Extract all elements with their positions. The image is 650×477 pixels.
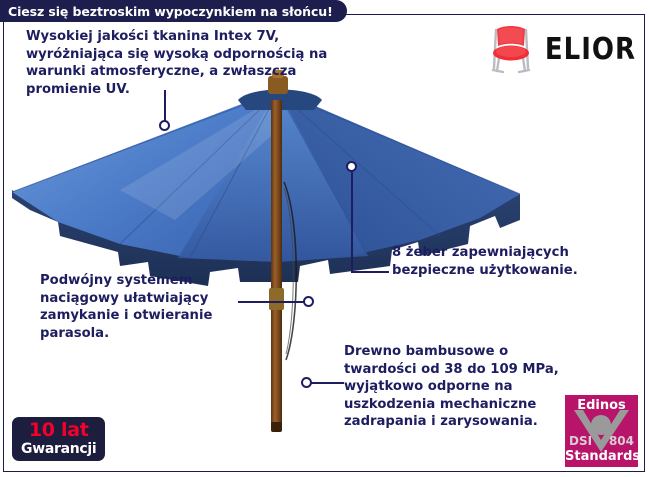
marker-tension [303,296,314,307]
leader-line-wood [310,382,344,384]
guarantee-badge: 10 lat Gwarancji [12,417,105,461]
callout-tension-text: Podwójny systemem naciągowy ułatwiający … [40,272,240,342]
guarantee-label: Gwarancji [21,442,96,456]
leader-line-tension [238,301,308,303]
marker-fabric [159,120,170,131]
callout-ribs-text: 8 żeber zapewniających bezpieczne użytko… [392,244,607,279]
header-banner: Ciesz się beztroskim wypoczynkiem na sło… [0,0,347,22]
red-chair-icon [487,24,535,76]
brand-name: ELIOR [545,33,636,68]
marker-ribs [346,161,357,172]
callout-fabric-text: Wysokiej jakości tkanina Intex 7V, wyróż… [26,28,344,98]
leader-line-ribs-vertical [351,172,353,272]
standards-label: Standards [565,449,638,464]
leader-line-fabric [164,90,166,122]
leader-line-ribs-horizontal [351,271,389,273]
brand-logo: ELIOR [487,24,636,76]
product-infographic: Ciesz się beztroskim wypoczynkiem na sło… [0,0,650,477]
standards-number: 804 [609,434,634,448]
standards-dsi: DSI [569,434,592,448]
guarantee-years: 10 lat [21,421,96,440]
callout-wood-text: Drewno bambusowe o twardości od 38 do 10… [344,343,569,431]
marker-wood [301,377,312,388]
standards-badge: Edinos DSI 804 Standards [565,395,638,467]
banner-title: Ciesz się beztroskim wypoczynkiem na sło… [8,4,333,19]
